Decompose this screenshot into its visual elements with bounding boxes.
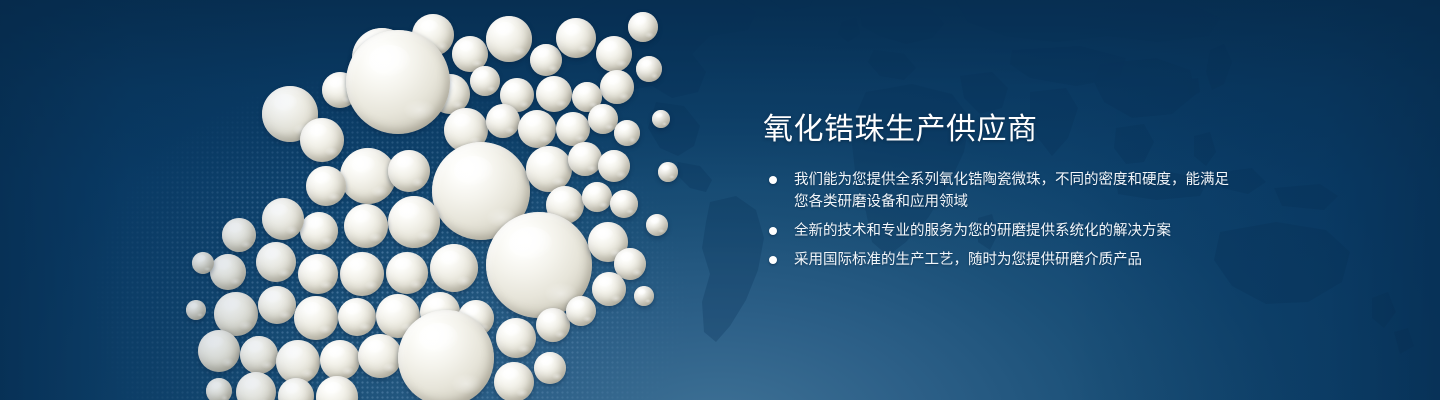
banner-copy: 氧化锆珠生产供应商 我们能为您提供全系列氧化锆陶瓷微珠，不同的密度和硬度，能满足… xyxy=(763,110,1233,271)
list-item: 采用国际标准的生产工艺，随时为您提供研磨介质产品 xyxy=(763,249,1233,271)
bullet-text: 我们能为您提供全系列氧化锆陶瓷微珠，不同的密度和硬度，能满足您各类研磨设备和应用… xyxy=(794,172,1229,210)
feature-bullet-list: 我们能为您提供全系列氧化锆陶瓷微珠，不同的密度和硬度，能满足您各类研磨设备和应用… xyxy=(763,169,1233,271)
list-item: 全新的技术和专业的服务为您的研磨提供系统化的解决方案 xyxy=(763,220,1233,242)
list-item: 我们能为您提供全系列氧化锆陶瓷微珠，不同的密度和硬度，能满足您各类研磨设备和应用… xyxy=(763,169,1233,213)
bullet-dot-icon xyxy=(769,227,777,235)
bullet-dot-icon xyxy=(769,176,777,184)
hero-banner: 氧化锆珠生产供应商 我们能为您提供全系列氧化锆陶瓷微珠，不同的密度和硬度，能满足… xyxy=(0,0,1440,400)
bullet-dot-icon xyxy=(769,256,777,264)
bullet-text: 采用国际标准的生产工艺，随时为您提供研磨介质产品 xyxy=(794,252,1142,268)
page-title: 氧化锆珠生产供应商 xyxy=(763,110,1233,150)
bullet-text: 全新的技术和专业的服务为您的研磨提供系统化的解决方案 xyxy=(794,223,1171,239)
